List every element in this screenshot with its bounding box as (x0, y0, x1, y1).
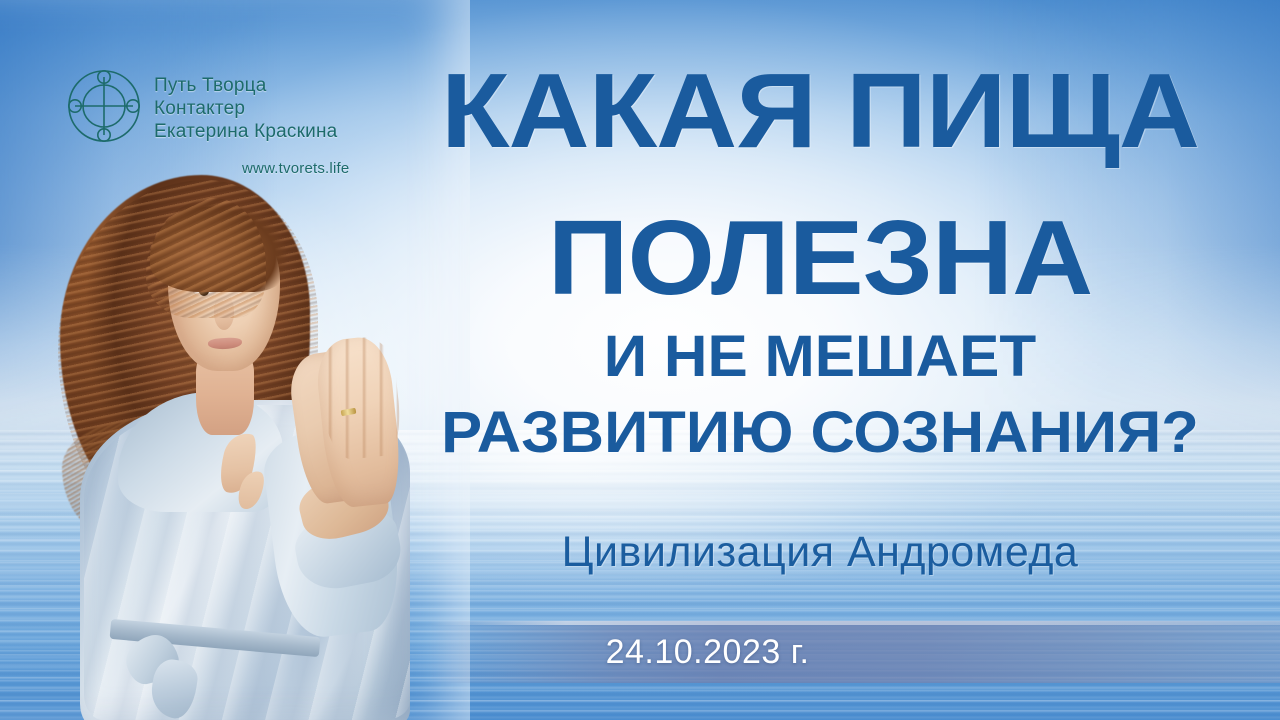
date-label: 24.10.2023 г. (430, 621, 985, 683)
brand-line-3: Екатерина Краскина (154, 120, 337, 143)
title-block: КАКАЯ ПИЩА ПОЛЕЗНА И НЕ МЕШАЕТ РАЗВИТИЮ … (420, 0, 1220, 720)
brand-website-url[interactable]: www.tvorets.life (242, 160, 349, 177)
brand-line-1: Путь Творца (154, 74, 337, 97)
brand-block: Путь Творца Контактер Екатерина Краскина… (62, 62, 362, 192)
title-line-2: ПОЛЕЗНА (396, 205, 1244, 311)
title-line-1: КАКАЯ ПИЩА (396, 58, 1244, 164)
brand-line-2: Контактер (154, 97, 337, 120)
title-line-3: И НЕ МЕШАЕТ (404, 328, 1236, 386)
subtitle: Цивилизация Андромеда (420, 528, 1220, 577)
brand-name: Путь Творца Контактер Екатерина Краскина (154, 74, 337, 143)
circle-cross-mandala-icon (66, 68, 142, 144)
title-line-4: РАЗВИТИЮ СОЗНАНИЯ? (396, 404, 1244, 462)
video-thumbnail-poster: Путь Творца Контактер Екатерина Краскина… (0, 0, 1280, 720)
